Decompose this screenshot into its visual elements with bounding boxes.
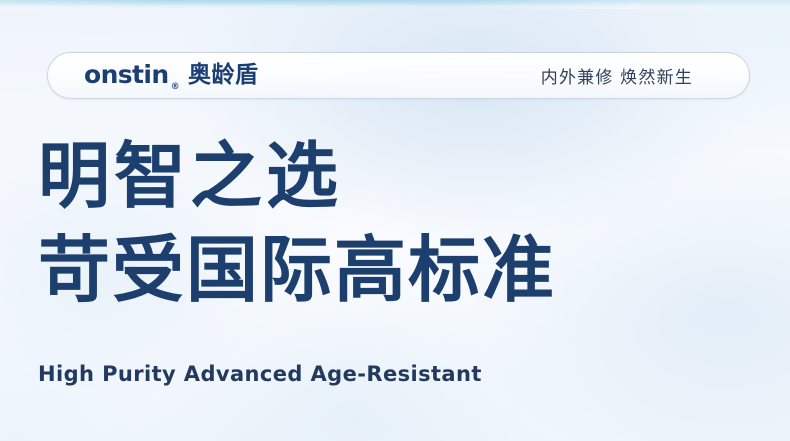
brand-wordmark-text: onstin xyxy=(84,60,169,89)
brand-wordmark: onstin® xyxy=(84,62,179,87)
brand-lockup: onstin® 奥龄盾 xyxy=(84,63,258,88)
subheadline-english: High Purity Advanced Age-Resistant xyxy=(38,362,482,386)
headline-line-1: 明智之选 xyxy=(38,140,750,212)
headline-block: 明智之选 苛受国际高标准 xyxy=(38,140,750,306)
brand-header-pill: onstin® 奥龄盾 内外兼修 焕然新生 xyxy=(47,52,750,99)
top-accent-band xyxy=(0,0,790,9)
registered-trademark-icon: ® xyxy=(171,82,179,92)
brand-chinese-name: 奥龄盾 xyxy=(188,64,259,87)
headline-line-2: 苛受国际高标准 xyxy=(38,234,750,306)
top-accent-band-sheen xyxy=(0,0,790,9)
promo-banner: onstin® 奥龄盾 内外兼修 焕然新生 明智之选 苛受国际高标准 High … xyxy=(0,0,790,441)
brand-tagline: 内外兼修 焕然新生 xyxy=(541,63,693,88)
